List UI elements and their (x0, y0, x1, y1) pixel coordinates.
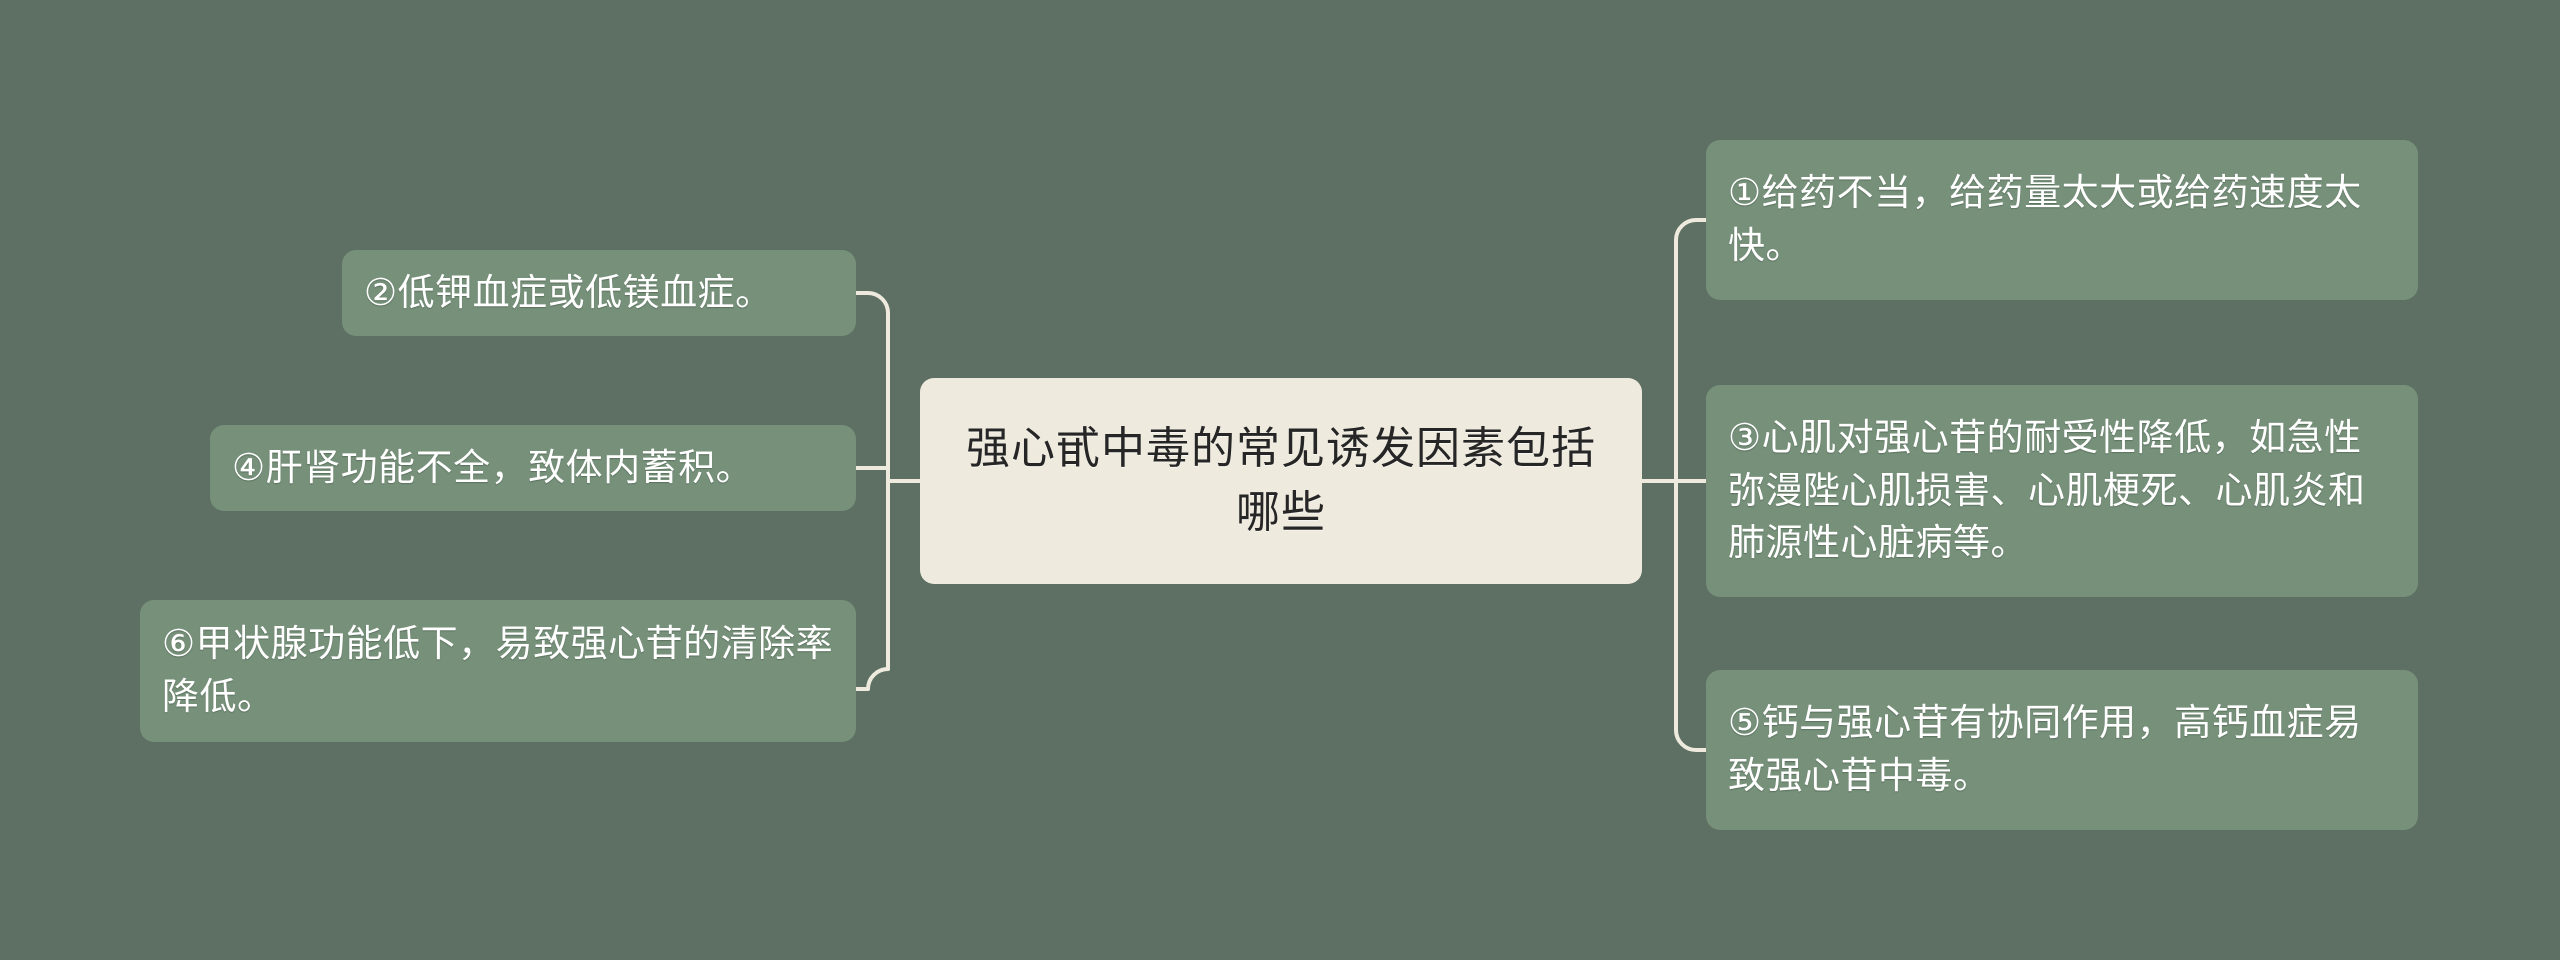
branch-node-3-text: ③心肌对强心苷的耐受性降低，如急性弥漫陛心肌损害、心肌梗死、心肌炎和肺源性心脏病… (1728, 412, 2396, 570)
mindmap-canvas: 强心甙中毒的常见诱发因素包括哪些 ①给药不当，给药量太大或给药速度太快。 ③心肌… (0, 0, 2560, 960)
branch-node-1-text: ①给药不当，给药量太大或给药速度太快。 (1728, 167, 2396, 272)
branch-node-5[interactable]: ⑤钙与强心苷有协同作用，高钙血症易致强心苷中毒。 (1706, 670, 2418, 830)
branch-node-3[interactable]: ③心肌对强心苷的耐受性降低，如急性弥漫陛心肌损害、心肌梗死、心肌炎和肺源性心脏病… (1706, 385, 2418, 597)
branch-node-6[interactable]: ⑥甲状腺功能低下，易致强心苷的清除率降低。 (140, 600, 856, 742)
branch-node-2[interactable]: ②低钾血症或低镁血症。 (342, 250, 856, 336)
root-node[interactable]: 强心甙中毒的常见诱发因素包括哪些 (920, 378, 1642, 584)
branch-node-4[interactable]: ④肝肾功能不全，致体内蓄积。 (210, 425, 856, 511)
branch-node-2-text: ②低钾血症或低镁血症。 (364, 267, 834, 320)
connector-right-node5 (1676, 730, 1706, 750)
connector-left-node6 (856, 669, 888, 689)
connector-left-node2 (856, 293, 888, 313)
root-node-text: 强心甙中毒的常见诱发因素包括哪些 (960, 417, 1602, 545)
branch-node-6-text: ⑥甲状腺功能低下，易致强心苷的清除率降低。 (162, 618, 834, 723)
branch-node-5-text: ⑤钙与强心苷有协同作用，高钙血症易致强心苷中毒。 (1728, 697, 2396, 802)
branch-node-1[interactable]: ①给药不当，给药量太大或给药速度太快。 (1706, 140, 2418, 300)
connector-right-node1 (1676, 220, 1706, 240)
branch-node-4-text: ④肝肾功能不全，致体内蓄积。 (232, 442, 834, 495)
